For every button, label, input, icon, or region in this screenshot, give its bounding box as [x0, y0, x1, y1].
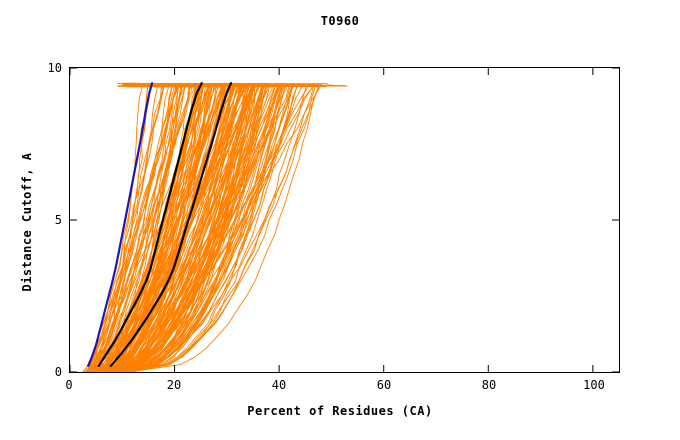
- xtick-label-1: 20: [157, 378, 191, 392]
- xtick-label-4: 80: [472, 378, 506, 392]
- x-axis-label: Percent of Residues (CA): [0, 404, 680, 418]
- chart-title: T0960: [0, 14, 680, 28]
- chart-root: T0960 0 20 40 60 80 100 0 5 10 Percent o…: [0, 0, 680, 440]
- y-axis-label: Distance Cutoff, A: [20, 112, 34, 332]
- xtick-label-3: 60: [367, 378, 401, 392]
- xtick-label-5: 100: [577, 378, 611, 392]
- ytick-label-0: 0: [26, 365, 62, 379]
- xtick-label-0: 0: [52, 378, 86, 392]
- plot-svg: [70, 68, 619, 372]
- xtick-label-2: 40: [262, 378, 296, 392]
- plot-area: [69, 67, 620, 373]
- ytick-label-2: 10: [26, 61, 62, 75]
